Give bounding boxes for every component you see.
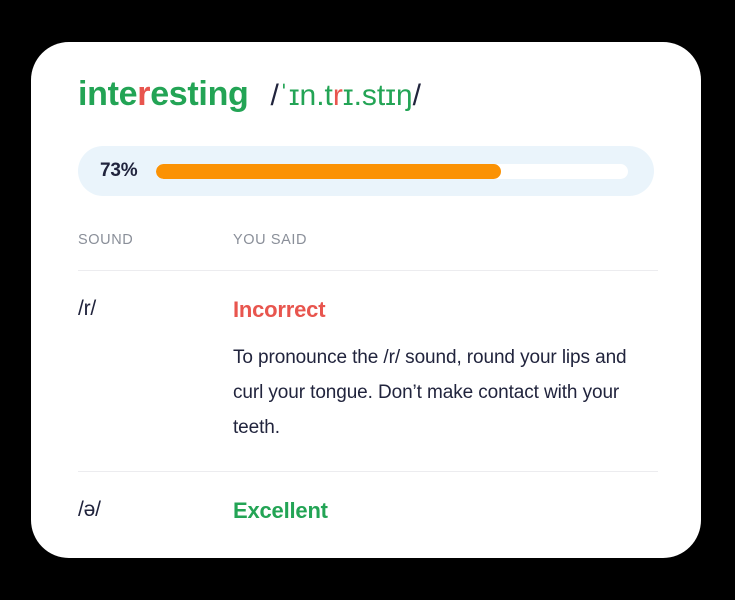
row-sound-cell: /r/ [78, 297, 233, 445]
sound-symbol: /ə/ [78, 498, 233, 522]
table-row[interactable]: /r/ Incorrect To pronounce the /r/ sound… [78, 271, 658, 471]
pronunciation-result-card: interesting /ˈɪn.trɪ.stɪŋ/ 73% SOUND YOU… [31, 42, 701, 558]
sound-breakdown-table: SOUND YOU SAID /r/ Incorrect To pronounc… [78, 232, 658, 550]
headword: interesting [78, 75, 249, 114]
score-percent-label: 73% [100, 160, 137, 182]
progress-fill [156, 164, 501, 179]
status-badge: Incorrect [233, 297, 658, 323]
status-badge: Excellent [233, 498, 658, 524]
ipa-after: ɪ.stɪŋ [343, 79, 413, 112]
row-feedback-cell: Incorrect To pronounce the /r/ sound, ro… [233, 297, 658, 445]
score-progress-bar: 73% [78, 146, 654, 196]
ipa-open-slash: / [271, 79, 279, 112]
headword-row: interesting /ˈɪn.trɪ.stɪŋ/ [78, 75, 421, 114]
row-sound-cell: /ə/ [78, 498, 233, 524]
ipa-close-slash: / [413, 79, 421, 112]
column-header-you-said: YOU SAID [233, 232, 658, 248]
column-header-sound: SOUND [78, 232, 233, 248]
headword-prefix: inte [78, 75, 137, 113]
ipa-error-letter: r [333, 79, 343, 112]
table-row[interactable]: /ə/ Excellent [78, 472, 658, 550]
sound-symbol: /r/ [78, 297, 233, 321]
ipa-before: ˈɪn.t [279, 79, 333, 112]
progress-track [156, 164, 628, 179]
screen: interesting /ˈɪn.trɪ.stɪŋ/ 73% SOUND YOU… [0, 0, 735, 600]
headword-error-letter: r [137, 75, 150, 113]
row-feedback-cell: Excellent [233, 498, 658, 524]
table-header-row: SOUND YOU SAID [78, 232, 658, 270]
headword-suffix: esting [150, 75, 248, 113]
pronunciation-tip: To pronounce the /r/ sound, round your l… [233, 340, 658, 445]
ipa-transcription: /ˈɪn.trɪ.stɪŋ/ [271, 79, 421, 113]
